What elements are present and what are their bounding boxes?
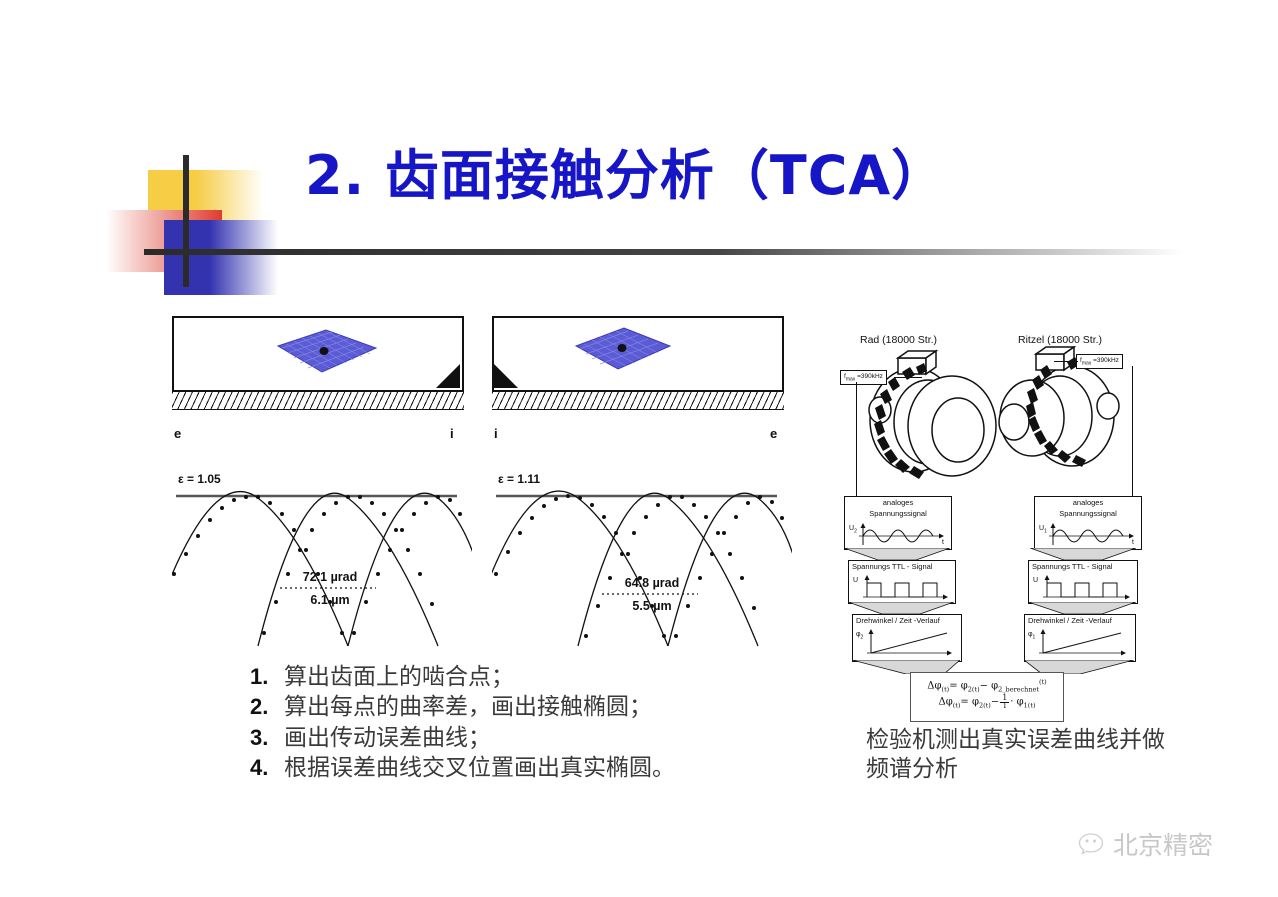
gear-left-title: Rad (18000 Str.) [860,334,937,346]
signal-caption: analoges [845,497,951,508]
flank-label-right: e [770,426,777,441]
flank-panel-right: i e [492,316,784,446]
x-axis-label: t [942,539,944,546]
signal-box-analog-left: analoges Spannungssignal U2 t [844,496,952,550]
step-number: 1. [250,664,284,690]
signal-caption: analoges [1035,497,1141,508]
epsilon-label: ε = 1.11 [498,472,540,486]
y-axis-label: U [1033,577,1038,584]
flank-hatching [492,390,784,410]
y-axis-sub: 2 [861,634,864,640]
decoration-horizontal-rule [144,249,1184,255]
step-text: 根据误差曲线交叉位置画出真实椭圆。 [284,755,675,781]
signal-caption: Spannungs TTL - Signal [849,561,955,572]
callout-right-fmax: fmax =390kHz [1076,354,1123,369]
measurement-diagram: Rad (18000 Str.) Ritzel (18000 Str.) [836,318,1156,718]
signal-caption: Spannungs TTL - Signal [1029,561,1137,572]
wechat-icon [1078,831,1106,857]
callout-right-sub: max [1082,360,1091,366]
sine-plot [845,523,951,549]
square-wave-plot [849,575,955,601]
list-item: 3. 画出传动误差曲线； [250,725,810,751]
y-axis-sub: 1 [1044,528,1047,534]
y-axis-sub: 1 [1033,634,1036,640]
decoration-vertical-rule [183,155,189,287]
step-number: 2. [250,694,284,720]
step-text: 画出传动误差曲线； [284,725,491,751]
signal-caption: Drehwinkel / Zeit -Verlauf [1025,615,1135,626]
formula-eq: = φ [960,697,979,708]
ramp-plot [1025,629,1135,659]
page-title: 2. 齿面接触分析（TCA） [305,146,1025,205]
callout-left-fmax: fmax =390kHz [840,370,887,385]
amplitude-urad-label: 64.8 µrad [602,576,702,590]
y-axis-label: U [853,577,858,584]
te-curve-plot [172,470,472,660]
formula-line-2: Δφ(t)= φ2(t)−1i· φ1(t) [911,694,1063,711]
transmission-error-chart-left: ε = 1.05 72.1 µrad 6.1 µm [172,470,472,660]
formula-fraction: 1i [1000,694,1009,710]
decoration-blue-block [164,220,278,295]
contact-patch [248,326,388,378]
square-wave-plot [1029,575,1137,601]
watermark-text: 北京精密 [1113,826,1213,862]
fraction-denominator: i [1003,701,1006,710]
formula-b-sub: 2(t) [968,685,980,693]
step-text: 算出齿面上的啮合点； [284,664,514,690]
flank-hatching [172,390,464,410]
formula-dot: · φ [1010,697,1023,708]
callout-left-connector [894,377,922,378]
step-text: 算出每点的曲率差，画出接触椭圆； [284,694,652,720]
y-axis-label: φ1 [1028,631,1035,640]
y-axis-label: φ2 [856,631,863,640]
funnel-left-1 [844,548,950,560]
flank-label-left: e [174,426,181,441]
signal-box-ttl-right: Spannungs TTL - Signal U [1028,560,1138,604]
formula-eq: = φ [949,680,968,691]
title-block: 2. 齿面接触分析（TCA） [0,0,1278,300]
funnel-left-2 [848,602,954,614]
formula-c-sub: 1(t) [1024,702,1036,710]
step-number: 4. [250,755,284,781]
footer-watermark: 北京精密 [1078,826,1213,862]
measurement-caption: 检验机测出真实误差曲线并做频谱分析 [866,726,1166,784]
signal-box-angle-right: Drehwinkel / Zeit -Verlauf φ1 [1024,614,1136,662]
formula-delta-phi: Δφ [939,697,953,708]
list-item: 1. 算出齿面上的啮合点； [250,664,810,690]
callout-right-drop [1132,366,1133,496]
flank-label-right: i [450,426,454,441]
amplitude-um-label: 6.1 µm [280,593,380,607]
callout-left-value: =390kHz [855,373,883,380]
y-axis-label: U1 [1039,525,1047,534]
callout-right-value: =390kHz [1091,357,1119,364]
funnel-right-2 [1028,602,1136,614]
signal-caption-2: Spannungssignal [845,508,951,519]
y-axis-sub: 2 [854,528,857,534]
formula-box: Δφ(t)= φ2(t)− φ2_berechnet(t) Δφ(t)= φ2(… [910,672,1064,722]
step-number: 3. [250,725,284,751]
flank-wedge-icon [494,364,518,388]
signal-caption: Drehwinkel / Zeit -Verlauf [853,615,961,626]
formula-c-sub: 2_berechnet [998,685,1039,693]
steps-list: 1. 算出齿面上的啮合点； 2. 算出每点的曲率差，画出接触椭圆； 3. 画出传… [250,664,810,786]
callout-left-drop [856,382,857,496]
te-curve-plot [492,470,792,660]
formula-tail: (t) [1039,678,1047,686]
formula-delta-phi: Δφ [927,680,941,691]
signal-box-analog-right: analoges Spannungssignal U1 t [1034,496,1142,550]
list-item: 2. 算出每点的曲率差，画出接触椭圆； [250,694,810,720]
funnel-right-1 [1030,548,1136,560]
flank-wedge-icon [436,364,460,388]
callout-left-sub: max [846,376,855,382]
formula-minus: − φ [980,680,999,691]
signal-caption-2: Spannungssignal [1035,508,1141,519]
signal-box-angle-left: Drehwinkel / Zeit -Verlauf φ2 [852,614,962,662]
gear-right-title: Ritzel (18000 Str.) [1018,334,1102,346]
callout-right-connector [1054,361,1078,362]
formula-line-1: Δφ(t)= φ2(t)− φ2_berechnet(t) [911,677,1063,694]
list-item: 4. 根据误差曲线交叉位置画出真实椭圆。 [250,755,810,781]
amplitude-urad-label: 72.1 µrad [280,570,380,584]
formula-b-sub: 2(t) [979,702,991,710]
x-axis-label: t [1132,539,1134,546]
signal-box-ttl-left: Spannungs TTL - Signal U [848,560,956,604]
transmission-error-chart-right: ε = 1.11 64.8 µrad 5.5 µm [492,470,792,660]
ramp-plot [853,629,961,659]
y-axis-label: U2 [849,525,857,534]
formula-minus: − [991,697,999,708]
contact-patch [552,324,682,374]
amplitude-um-label: 5.5 µm [602,599,702,613]
flank-panel-left: e i [172,316,464,446]
flank-label-left: i [494,426,498,441]
sine-plot [1035,523,1141,549]
epsilon-label: ε = 1.05 [178,472,221,486]
